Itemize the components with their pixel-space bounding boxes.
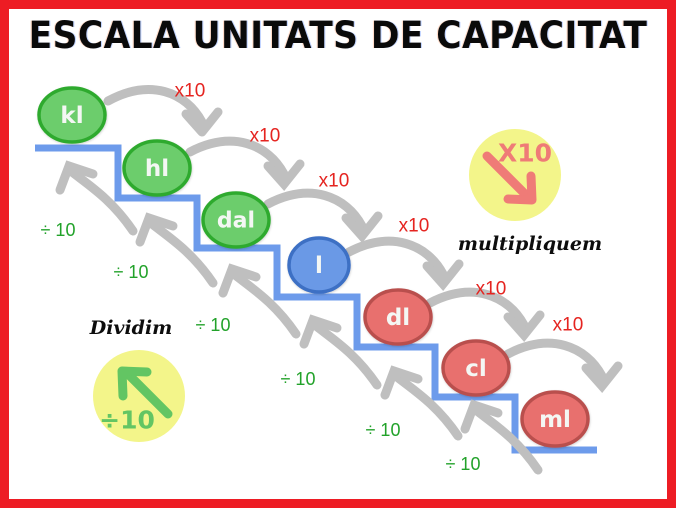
multiply-factor-label: x10 (250, 126, 281, 147)
capacity-scale-poster: ESCALA UNITATS DE CAPACITAT (0, 0, 676, 508)
unit-bubble-cl[interactable]: cl (443, 341, 509, 395)
multiply-factor-label: x10 (476, 279, 507, 300)
divide-arrow (223, 269, 296, 334)
legend-multiply-caption: multipliquem (458, 233, 602, 255)
divide-factor-label: ÷ 10 (41, 220, 76, 240)
unit-bubble-hl[interactable]: hl (124, 141, 190, 195)
legend-divide: ÷10 Dividim (89, 317, 185, 442)
diagram-canvas: X10 multipliquem ÷10 Dividim klhldalldlc… (0, 0, 676, 508)
unit-bubble-label: dal (217, 209, 255, 234)
multiply-arrow (190, 141, 300, 184)
divide-factor-label: ÷ 10 (446, 454, 481, 474)
multiply-factor-label: x10 (175, 81, 206, 102)
unit-bubble-label: l (315, 253, 323, 279)
unit-bubble-label: hl (145, 156, 169, 182)
legend-divide-label: ÷10 (99, 406, 155, 435)
multiply-factor-label: x10 (399, 216, 430, 237)
unit-bubble-dl[interactable]: dl (365, 290, 431, 344)
multiply-arrow (349, 241, 459, 284)
multiply-arrow (268, 193, 378, 236)
unit-bubble-l[interactable]: l (289, 238, 349, 292)
divide-factor-label: ÷ 10 (366, 420, 401, 440)
divide-factor-label: ÷ 10 (281, 369, 316, 389)
unit-bubble-label: kl (60, 103, 83, 129)
unit-bubble-dal[interactable]: dal (203, 193, 269, 247)
unit-bubble-label: ml (539, 407, 571, 433)
multiply-factor-label: x10 (553, 315, 584, 336)
unit-bubble-label: dl (386, 305, 410, 331)
divide-factor-label: ÷ 10 (196, 315, 231, 335)
legend-divide-caption: Dividim (89, 317, 173, 339)
divide-factor-label: ÷ 10 (114, 262, 149, 282)
unit-bubble-kl[interactable]: kl (39, 88, 105, 142)
unit-bubble-ml[interactable]: ml (522, 392, 588, 446)
legend-multiply-label: X10 (498, 139, 552, 168)
multiply-arrow (508, 343, 618, 386)
legend-multiply: X10 multipliquem (458, 129, 602, 255)
unit-bubble-label: cl (465, 356, 487, 382)
multiply-factor-label: x10 (319, 171, 350, 192)
